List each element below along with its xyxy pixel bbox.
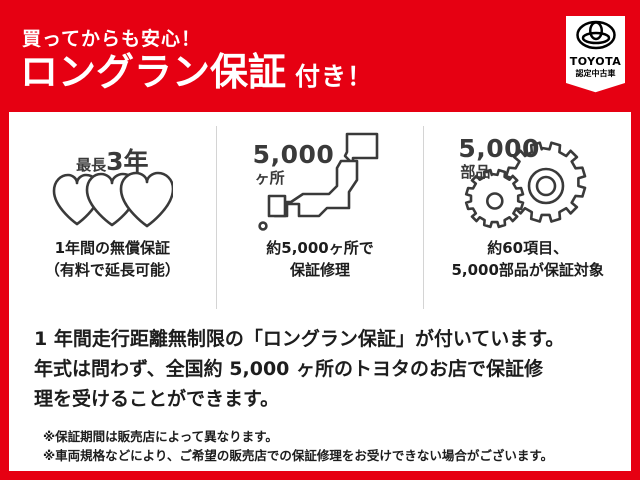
longrun-warranty-banner: 買ってからも安心！ ロングラン保証 付き！ TOYOTA 認定中古車	[0, 0, 640, 480]
header-headline: ロングラン保証 付き！	[20, 53, 373, 91]
feature-art-3: 5,000 部品	[424, 126, 631, 238]
feature-2-caption: 約5,000ヶ所で 保証修理	[266, 238, 373, 282]
warranty-description: 1 年間走行距離無制限の「ロングラン保証」が付いています。 年式は問わず、全国約…	[34, 324, 616, 414]
badge-brand-text: TOYOTA	[564, 55, 627, 68]
feature-1-caption-line1: 1年間の無償保証	[45, 238, 180, 260]
banner-content-panel: 最長3年 1年間の無償保証 （有料で延長可能	[9, 112, 631, 471]
footnote-2: ※車両規格などにより、ご希望の販売店での保証修理をお受けできない場合がございます…	[43, 446, 633, 465]
toyota-certified-badge: TOYOTA 認定中古車	[564, 14, 627, 100]
feature-1-caption-line2: （有料で延長可能）	[45, 260, 180, 282]
feature-3-caption: 約60項目、 5,000部品が保証対象	[451, 238, 603, 282]
footnote-1: ※保証期間は販売店によって異なります。	[43, 427, 633, 446]
description-line-2: 年式は問わず、全国約 5,000 ヶ所のトヨタのお店で保証修	[34, 354, 616, 384]
feature-art-1: 最長3年	[9, 126, 216, 238]
headline-suffix: 付き！	[295, 64, 373, 89]
feature-3-art-small: 部品	[460, 161, 490, 182]
feature-2-caption-line2: 保証修理	[266, 260, 373, 282]
feature-3-caption-line2: 5,000部品が保証対象	[451, 260, 603, 282]
feature-art-2: 5,000 ヶ所	[217, 126, 424, 238]
feature-1-caption: 1年間の無償保証 （有料で延長可能）	[45, 238, 180, 282]
feature-column-warranty-years: 最長3年 1年間の無償保証 （有料で延長可能	[9, 126, 216, 309]
headline-main: ロングラン保証	[20, 53, 286, 91]
feature-2-art-large: 5,000	[253, 140, 335, 169]
footnotes: ※保証期間は販売店によって異なります。 ※車両規格などにより、ご希望の販売店での…	[43, 427, 633, 466]
feature-column-parts: 5,000 部品 約60項目、 5,000部品が保証対象	[423, 126, 631, 309]
feature-3-art-large: 5,000	[458, 134, 540, 163]
three-hearts-icon	[51, 170, 173, 232]
feature-column-locations: 5,000 ヶ所 約5,000ヶ所で 保証修理	[216, 126, 424, 309]
feature-columns: 最長3年 1年間の無償保証 （有料で延長可能	[9, 126, 631, 309]
feature-3-caption-line1: 約60項目、	[451, 238, 603, 260]
toyota-emblem-icon	[564, 20, 627, 50]
feature-2-caption-line1: 約5,000ヶ所で	[266, 238, 373, 260]
header-tagline: 買ってからも安心！	[22, 24, 201, 51]
badge-sub-text: 認定中古車	[564, 68, 627, 79]
description-line-1: 1 年間走行距離無制限の「ロングラン保証」が付いています。	[34, 324, 616, 354]
feature-2-art-small: ヶ所	[255, 167, 285, 188]
banner-header: 買ってからも安心！ ロングラン保証 付き！ TOYOTA 認定中古車	[0, 0, 640, 112]
description-line-3: 理を受けることができます。	[34, 384, 616, 414]
